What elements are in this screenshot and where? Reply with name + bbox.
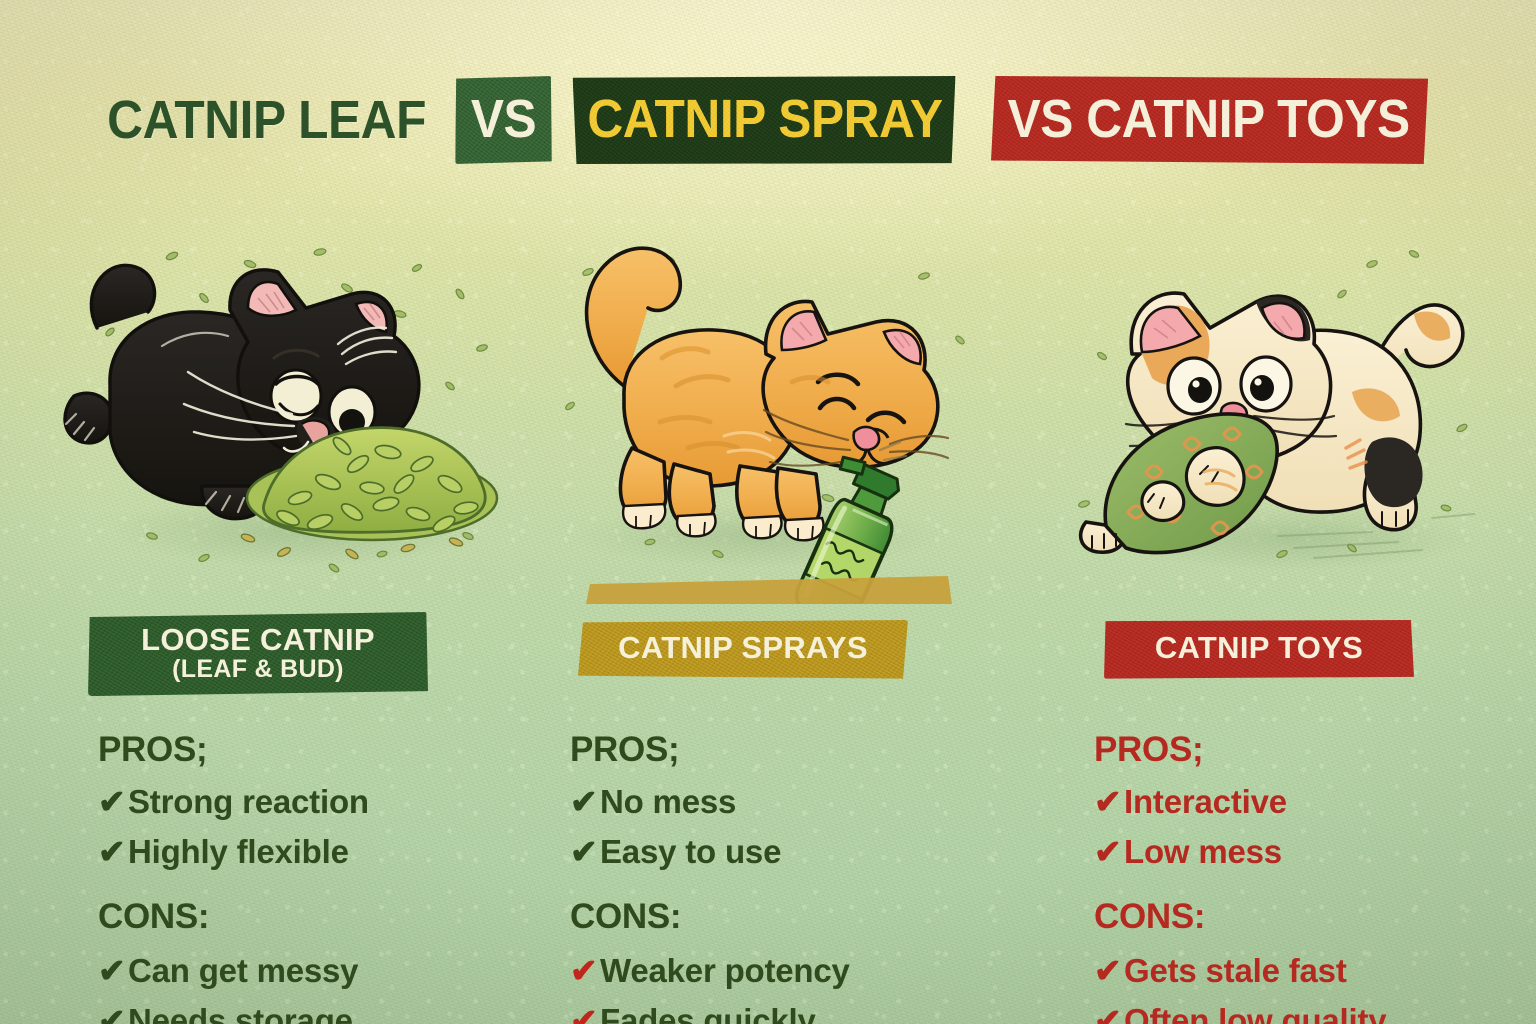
infographic-poster: CATNIP LEAF VS CATNIP SPRAY VS CATNIP TO…	[0, 0, 1536, 1024]
poster-title: CATNIP LEAF VS CATNIP SPRAY VS CATNIP TO…	[0, 76, 1536, 164]
check-icon: ✔	[98, 777, 128, 827]
column-catnip-toys	[1042, 236, 1512, 604]
column-catnip-sprays	[528, 236, 998, 604]
title-vs-first: VS	[455, 76, 552, 164]
cons-item: ✔Fades quickly	[570, 996, 1020, 1024]
title-part-catnip-spray: CATNIP SPRAY	[573, 76, 956, 164]
cons-heading: CONS:	[1094, 899, 1536, 934]
cons-item: ✔Gets stale fast	[1094, 946, 1536, 996]
title-part-catnip-toys: VS CATNIP TOYS	[991, 76, 1428, 164]
cons-item-label: Fades quickly	[600, 1002, 816, 1024]
cons-item-label: Can get messy	[128, 952, 358, 989]
banner-1-subtitle: (LEAF & BUD)	[98, 657, 418, 683]
cons-item-label: Often low quality	[1124, 1002, 1386, 1024]
cons-item-label: Gets stale fast	[1124, 952, 1347, 989]
pros-heading: PROS;	[98, 732, 548, 767]
cons-heading: CONS:	[98, 899, 548, 934]
pros-item: ✔Interactive	[1094, 777, 1536, 827]
check-icon: ✔	[1094, 996, 1124, 1024]
cons-item: ✔Weaker potency	[570, 946, 1020, 996]
check-icon: ✔	[1094, 827, 1124, 877]
pros-item-label: Easy to use	[600, 833, 781, 870]
title-part-catnip-leaf: CATNIP LEAF	[103, 76, 437, 164]
pros-item: ✔Easy to use	[570, 827, 1020, 877]
pros-item: ✔No mess	[570, 777, 1020, 827]
pros-item-label: Low mess	[1124, 833, 1282, 870]
banner-catnip-toys[interactable]: CATNIP TOYS	[1104, 620, 1414, 679]
check-icon: ✔	[98, 946, 128, 996]
cons-item-label: Weaker potency	[600, 952, 850, 989]
pros-cons-catnip-sprays: PROS; ✔No mess ✔Easy to use CONS: ✔Weake…	[570, 732, 1020, 1024]
banner-1-title: LOOSE CATNIP	[141, 622, 375, 657]
pros-item-label: Interactive	[1124, 783, 1287, 820]
column-loose-catnip	[52, 236, 522, 604]
check-icon: ✔	[570, 946, 600, 996]
pros-heading: PROS;	[570, 732, 1020, 767]
pros-item-label: Strong reaction	[128, 783, 369, 820]
pros-item: ✔Strong reaction	[98, 777, 548, 827]
banner-2-title: CATNIP SPRAYS	[618, 630, 868, 665]
cons-heading: CONS:	[570, 899, 1020, 934]
pros-heading: PROS;	[1094, 732, 1536, 767]
illustration-calico-cat	[1042, 236, 1512, 604]
illustration-orange-cat	[528, 236, 998, 604]
cons-item: ✔Often low quality	[1094, 996, 1536, 1024]
check-icon: ✔	[1094, 946, 1124, 996]
check-icon: ✔	[98, 827, 128, 877]
banner-loose-catnip[interactable]: LOOSE CATNIP (LEAF & BUD)	[88, 612, 428, 696]
cons-item: ✔Needs storage	[98, 996, 548, 1024]
pros-item: ✔Highly flexible	[98, 827, 548, 877]
check-icon: ✔	[1094, 777, 1124, 827]
cons-item: ✔Can get messy	[98, 946, 548, 996]
pros-cons-loose-catnip: PROS; ✔Strong reaction ✔Highly flexible …	[98, 732, 548, 1024]
cons-item-label: Needs storage	[128, 1002, 353, 1024]
pros-item-label: Highly flexible	[128, 833, 349, 870]
pros-item-label: No mess	[600, 783, 736, 820]
pros-item: ✔Low mess	[1094, 827, 1536, 877]
pros-cons-catnip-toys: PROS; ✔Interactive ✔Low mess CONS: ✔Gets…	[1094, 732, 1536, 1024]
check-icon: ✔	[570, 777, 600, 827]
check-icon: ✔	[98, 996, 128, 1024]
check-icon: ✔	[570, 827, 600, 877]
check-icon: ✔	[570, 996, 600, 1024]
illustration-black-cat	[52, 236, 522, 604]
banner-3-title: CATNIP TOYS	[1155, 630, 1363, 665]
banner-catnip-sprays[interactable]: CATNIP SPRAYS	[578, 620, 908, 679]
